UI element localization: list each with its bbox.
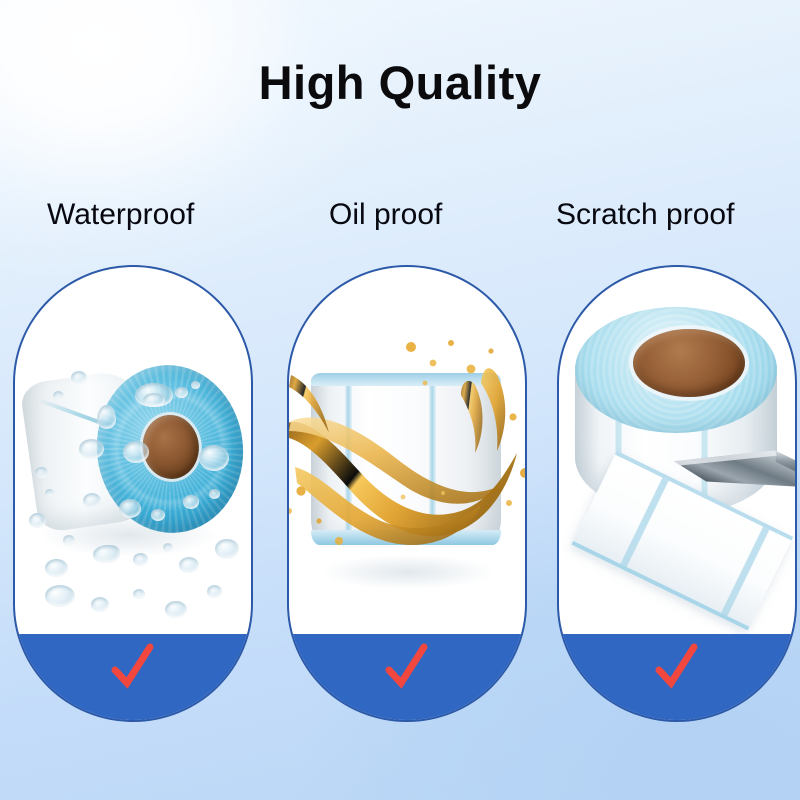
water-droplet [29, 513, 46, 528]
water-droplet [79, 439, 104, 459]
water-droplet [35, 467, 48, 478]
water-droplet [179, 557, 199, 573]
water-droplet [133, 589, 145, 599]
feature-card-footer [559, 634, 795, 720]
feature-label-scratch-proof: Scratch proof [556, 198, 734, 232]
roll-edge-bottom [311, 530, 501, 545]
water-droplet [53, 391, 64, 400]
waterproof-product-photo [15, 267, 251, 638]
water-droplet [119, 499, 141, 518]
water-droplet [191, 381, 200, 389]
water-droplet [93, 545, 120, 563]
label-roll-scratch [561, 301, 795, 631]
water-droplet [215, 539, 239, 559]
water-droplet [133, 553, 148, 566]
check-icon [384, 642, 430, 690]
roll-core [633, 329, 745, 397]
check-icon [110, 642, 156, 690]
feature-card-footer [289, 634, 525, 720]
roll-core [140, 412, 202, 482]
water-droplet [63, 535, 75, 545]
check-icon [654, 642, 700, 690]
water-droplet [183, 495, 199, 509]
label-roll-water [23, 353, 251, 583]
feature-card-footer [15, 634, 251, 720]
water-droplet [91, 597, 109, 612]
feature-label-waterproof: Waterproof [47, 198, 194, 232]
feature-card-oil-proof [287, 265, 527, 722]
roll-edge-top [311, 373, 501, 386]
water-droplet [71, 371, 87, 384]
water-droplet [175, 387, 188, 398]
water-droplet [163, 543, 173, 552]
roll-top-face [575, 307, 777, 433]
label-separator [345, 375, 352, 545]
water-droplet [83, 493, 101, 508]
label-separator [429, 375, 436, 545]
feature-card-waterproof [13, 265, 253, 722]
feature-card-scratch-proof [557, 265, 797, 722]
water-droplet [151, 509, 165, 521]
label-roll-oil [311, 325, 507, 575]
water-droplet [45, 559, 68, 577]
water-droplet [143, 393, 165, 407]
scratch-proof-product-photo [559, 267, 795, 638]
water-droplet [199, 445, 229, 471]
roll-body [311, 373, 501, 545]
water-droplet [207, 585, 222, 598]
water-droplet [165, 601, 187, 618]
oil-proof-product-photo [289, 267, 525, 638]
water-droplet [97, 405, 116, 429]
water-droplet [209, 489, 220, 499]
product-feature-banner: High Quality Waterproof Oil proof Scratc… [0, 0, 800, 800]
feature-label-oil-proof: Oil proof [329, 198, 442, 232]
page-title: High Quality [0, 55, 800, 110]
water-droplet [45, 489, 54, 497]
water-droplet [123, 441, 149, 463]
water-droplet [45, 585, 75, 607]
